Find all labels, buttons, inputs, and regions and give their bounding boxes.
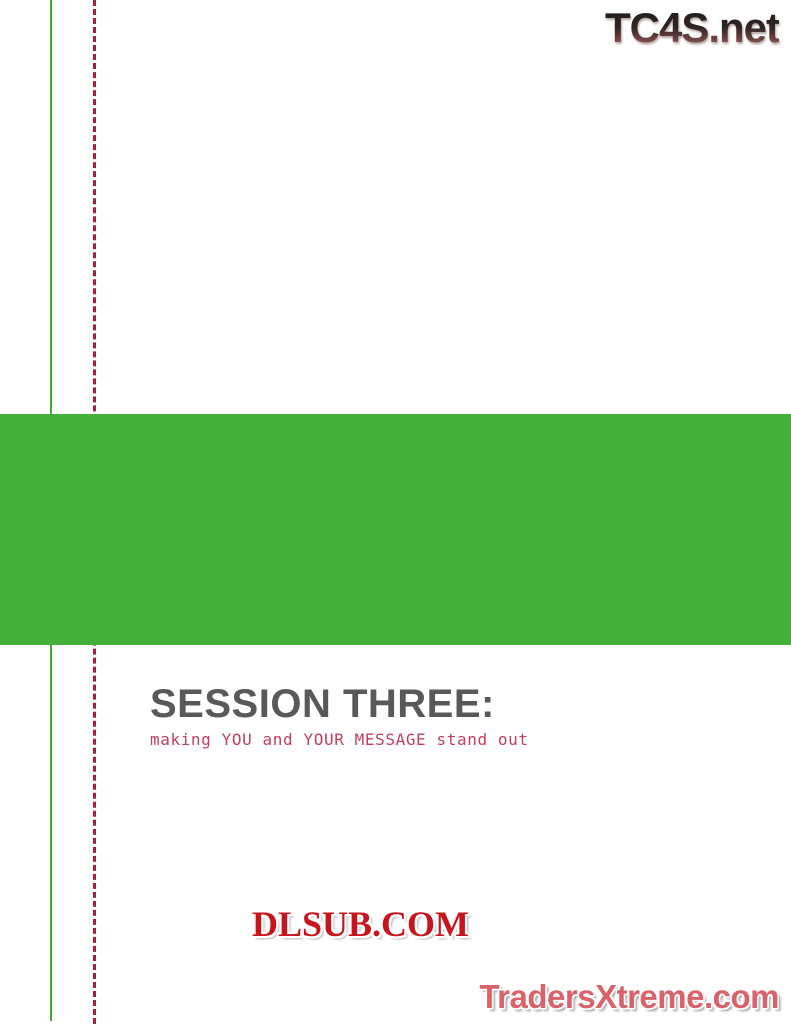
brand-logo-bottom-right: TradersXtreme.com (479, 978, 779, 1016)
session-subtitle: making YOU and YOUR MESSAGE stand out (150, 730, 529, 749)
brand-logo-top-right: TC4S.net (605, 4, 779, 52)
session-heading: SESSION THREE: (150, 682, 495, 727)
page-title: VELOCITY (150, 958, 460, 1023)
site-watermark: DLSUB.COM (252, 903, 469, 945)
green-title-banner: Tina Lorenz Authentic-Copy VELOCITY DLSU… (0, 414, 791, 645)
document-page: TC4S.net Tina Lorenz Authentic-Copy VELO… (0, 0, 791, 1024)
